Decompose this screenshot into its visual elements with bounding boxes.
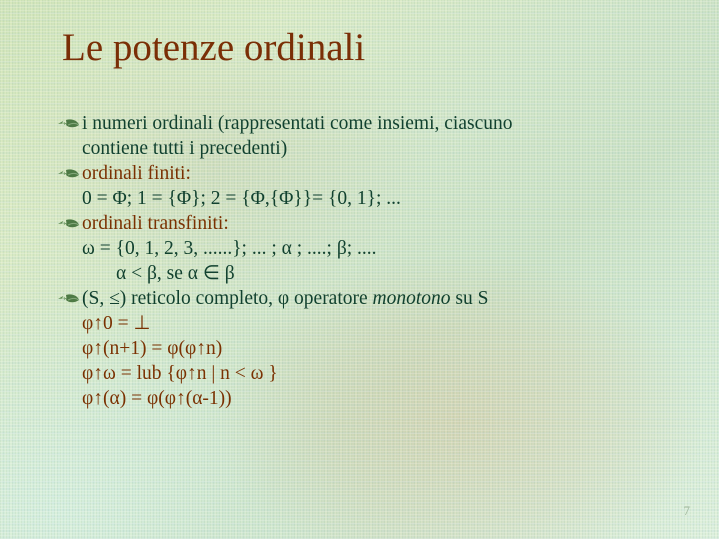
- formula-line: φ↑0 = ⊥: [56, 311, 676, 336]
- bullet-item: ordinali transfiniti:: [56, 211, 676, 236]
- formula-line: φ↑(α) = φ(φ↑(α-1)): [56, 386, 676, 411]
- formula-text: φ↑ω = lub {φ↑n | n < ω }: [82, 361, 278, 386]
- slide-body: i numeri ordinali (rappresentati come in…: [56, 111, 676, 411]
- bullet-text-before: (S, ≤) reticolo completo, φ operatore: [82, 288, 373, 309]
- formula-line: α < β, se α ∈ β: [56, 261, 676, 286]
- formula-text: 0 = Φ; 1 = {Φ}; 2 = {Φ,{Φ}}= {0, 1}; ...: [82, 186, 401, 211]
- formula-line: ω = {0, 1, 2, 3, ......}; ... ; α ; ....…: [56, 236, 676, 261]
- formula-line: 0 = Φ; 1 = {Φ}; 2 = {Φ,{Φ}}= {0, 1}; ...: [56, 186, 676, 211]
- bullet-item: ordinali finiti:: [56, 161, 676, 186]
- page-number: 7: [684, 503, 691, 519]
- bullet-text: (S, ≤) reticolo completo, φ operatore mo…: [82, 286, 488, 311]
- leaf-bullet-icon: [56, 217, 82, 237]
- bullet-text: ordinali transfiniti:: [82, 211, 229, 236]
- bullet-line: i numeri ordinali (rappresentati come in…: [82, 111, 513, 136]
- formula-text: α < β, se α ∈ β: [116, 261, 235, 286]
- bullet-text: i numeri ordinali (rappresentati come in…: [82, 111, 513, 161]
- formula-line: φ↑ω = lub {φ↑n | n < ω }: [56, 361, 676, 386]
- leaf-bullet-icon: [56, 117, 82, 137]
- bullet-text-emphasis: monotono: [373, 288, 451, 309]
- formula-text: φ↑(n+1) = φ(φ↑n): [82, 336, 222, 361]
- formula-text: φ↑0 = ⊥: [82, 311, 151, 336]
- formula-text: φ↑(α) = φ(φ↑(α-1)): [82, 386, 232, 411]
- leaf-bullet-icon: [56, 167, 82, 187]
- bullet-text: ordinali finiti:: [82, 161, 191, 186]
- leaf-bullet-icon: [56, 292, 82, 312]
- bullet-item: i numeri ordinali (rappresentati come in…: [56, 111, 676, 161]
- formula-text: ω = {0, 1, 2, 3, ......}; ... ; α ; ....…: [82, 236, 377, 261]
- formula-line: φ↑(n+1) = φ(φ↑n): [56, 336, 676, 361]
- bullet-item: (S, ≤) reticolo completo, φ operatore mo…: [56, 286, 676, 311]
- bullet-line: contiene tutti i precedenti): [82, 136, 513, 161]
- bullet-text-after: su S: [451, 288, 489, 309]
- slide-canvas: Le potenze ordinali i numeri ordinali (r…: [0, 0, 719, 539]
- page-title: Le potenze ordinali: [62, 28, 365, 69]
